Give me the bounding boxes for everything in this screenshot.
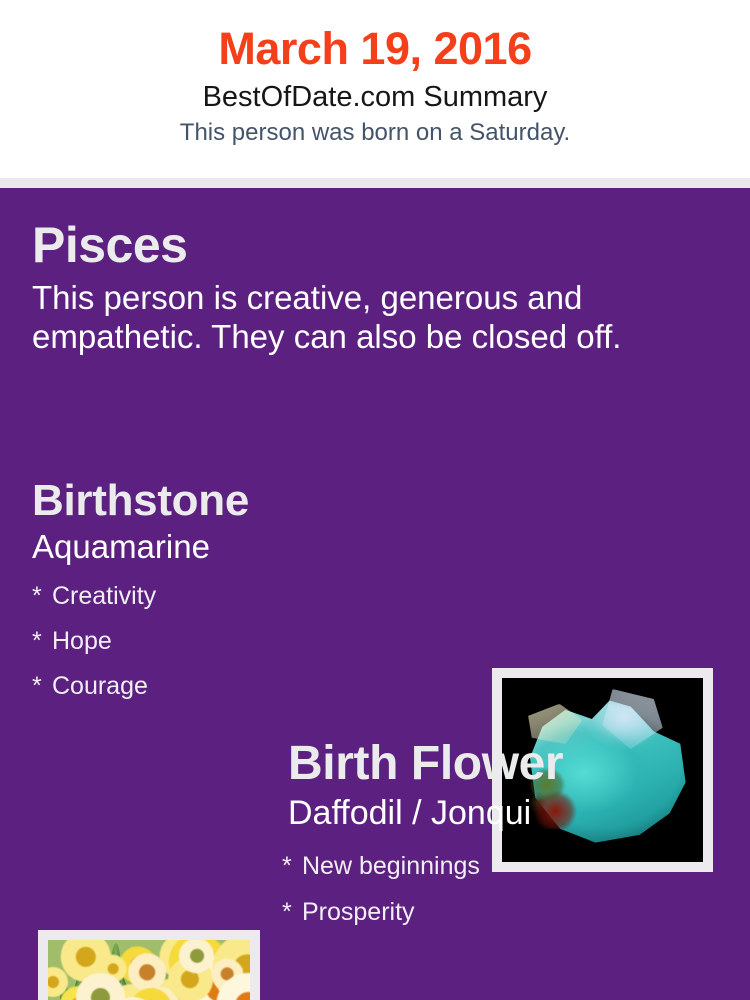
zodiac-description-text: This person is creative, generous and em…: [32, 278, 704, 356]
page-title-date: March 19, 2016: [0, 24, 750, 74]
bullet-asterisk-icon: *: [32, 574, 52, 619]
site-name-subtitle: BestOfDate.com Summary: [0, 78, 750, 116]
birthstone-trait-label: Hope: [52, 627, 112, 655]
bullet-asterisk-icon: *: [282, 889, 302, 935]
list-item: *Creativity: [32, 574, 472, 619]
bullet-asterisk-icon: *: [32, 619, 52, 664]
birth-flower-heading: Birth Flower: [288, 736, 722, 792]
zodiac-sign-heading: Pisces: [32, 216, 712, 274]
birth-day-of-week-text: This person was born on a Saturday.: [0, 117, 750, 149]
birth-flower-trait-label: New beginnings: [302, 852, 480, 880]
summary-page: March 19, 2016 BestOfDate.com Summary Th…: [0, 0, 750, 1000]
list-item: *Prosperity: [282, 889, 722, 935]
daffodil-corona: [137, 962, 158, 983]
zodiac-section: Pisces This person is creative, generous…: [32, 216, 712, 356]
daffodil-corona: [48, 975, 61, 989]
birth-flower-name: Daffodil / Jonqui: [288, 793, 722, 833]
header-divider: [0, 178, 750, 188]
bullet-asterisk-icon: *: [32, 664, 52, 709]
birth-flower-image-frame: [38, 930, 260, 1000]
daffodil-corona: [187, 946, 206, 965]
birthstone-section: Birthstone Aquamarine *Creativity *Hope …: [32, 476, 472, 709]
bullet-asterisk-icon: *: [282, 843, 302, 889]
birthstone-trait-label: Creativity: [52, 582, 156, 610]
daffodil-corona: [234, 990, 250, 1000]
birthstone-heading: Birthstone: [32, 476, 472, 526]
list-item: *Hope: [32, 619, 472, 664]
details-panel: Pisces This person is creative, generous…: [0, 188, 750, 1000]
birth-flower-trait-list: *New beginnings *Prosperity: [282, 843, 722, 935]
birthstone-name: Aquamarine: [32, 528, 472, 566]
daffodil-corona: [88, 986, 112, 1000]
daffodil-corona: [73, 944, 99, 970]
list-item: *Courage: [32, 664, 472, 709]
birth-flower-image: [48, 940, 250, 1000]
page-header: March 19, 2016 BestOfDate.com Summary Th…: [0, 0, 750, 178]
birthstone-trait-label: Courage: [52, 672, 148, 700]
birth-flower-trait-label: Prosperity: [302, 898, 415, 926]
birth-flower-section: Birth Flower Daffodil / Jonqui *New begi…: [282, 736, 722, 935]
list-item: *New beginnings: [282, 843, 722, 889]
birthstone-trait-list: *Creativity *Hope *Courage: [32, 574, 472, 709]
